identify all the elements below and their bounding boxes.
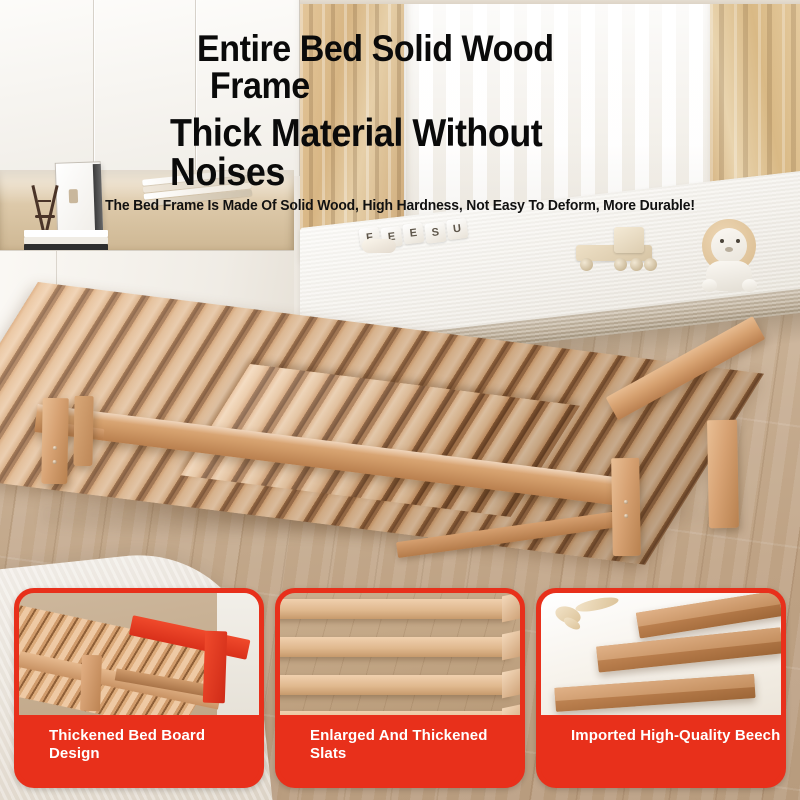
feature-card-thickened-bed-board[interactable]: Thickened Bed Board Design [14,588,264,788]
solid-wood-bed-frame [0,268,800,608]
wardrobe-panel [0,0,94,176]
subheadline: The Bed Frame Is Made Of Solid Wood, Hig… [16,198,784,214]
feature-card-image [19,593,259,725]
bed-leg-front-right [611,458,641,556]
bed-leg-back-left [73,396,93,466]
stacked-books [24,230,108,252]
feature-card-imported-beech[interactable]: Imported High-Quality Beech [536,588,786,788]
letter-blocks: F E E S U [358,213,491,263]
letter-block: S [424,222,446,244]
feature-card-image [280,593,520,725]
feature-card-label: Thickened Bed Board Design [19,715,259,783]
toy-pill-block [362,239,396,253]
letter-block: U [446,218,468,240]
wardrobe-panel [196,0,300,176]
feature-card-image [541,593,781,725]
curtain-rod [300,0,800,4]
feature-card-enlarged-thickened-slats[interactable]: Enlarged And Thickened Slats [275,588,525,788]
feature-card-label: Enlarged And Thickened Slats [280,715,520,783]
bed-leg-front-left [41,398,68,484]
bed-leg-back-right [707,420,739,529]
feature-card-label: Imported High-Quality Beech [541,715,781,783]
wardrobe-panel [94,0,196,176]
wooden-toy-truck [570,227,656,271]
product-banner: F E E S U [0,0,800,800]
feature-cards: Thickened Bed Board Design Enlarged And … [0,588,800,793]
letter-block: E [402,222,424,244]
